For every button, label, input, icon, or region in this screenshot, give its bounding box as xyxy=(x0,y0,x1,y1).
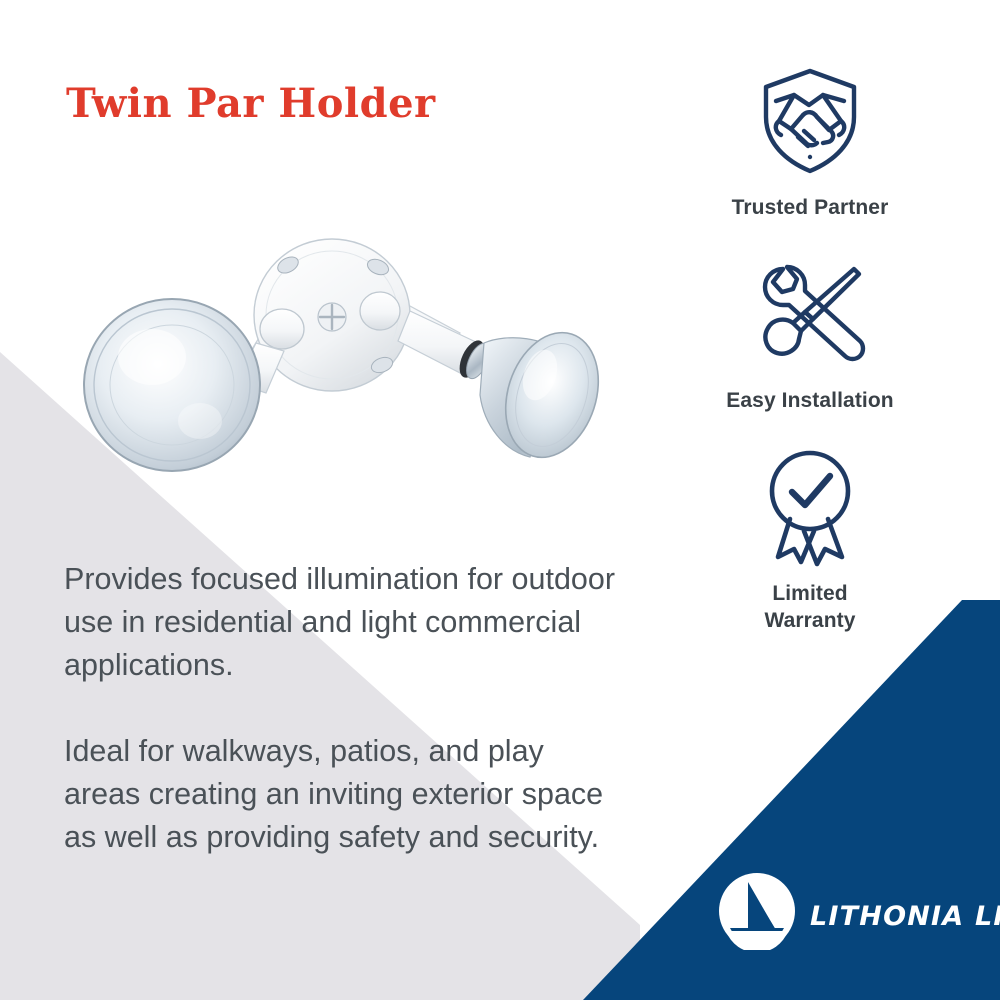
wrench-screwdriver-icon xyxy=(660,255,960,373)
description-block: Provides focused illumination for outdoo… xyxy=(64,558,624,859)
description-paragraph-2: Ideal for walkways, patios, and play are… xyxy=(64,730,624,859)
handshake-shield-icon xyxy=(660,62,960,180)
brand-logo: LITHONIA LIGHTING® xyxy=(718,872,1000,955)
brand-wordmark: LITHONIA LIGHTING® xyxy=(810,897,1000,931)
feature-label-line: Warranty xyxy=(660,607,960,634)
feature-limited-warranty: Limited Warranty xyxy=(660,448,960,634)
description-paragraph-1: Provides focused illumination for outdoo… xyxy=(64,558,624,687)
feature-label: Limited Warranty xyxy=(660,580,960,634)
brand-name-line-2: LIGHTING xyxy=(975,901,1000,932)
check-ribbon-badge-icon xyxy=(660,448,960,566)
brand-name-line-1: LITHONIA xyxy=(810,901,964,932)
lithonia-sail-circle-icon xyxy=(718,872,796,955)
feature-list: Trusted Partner Easy Installation xyxy=(660,62,960,668)
page-title: Twin Par Holder xyxy=(66,80,436,127)
feature-label: Trusted Partner xyxy=(660,194,960,221)
product-image xyxy=(60,225,640,515)
product-feature-card: Twin Par Holder xyxy=(0,0,1000,1000)
feature-trusted-partner: Trusted Partner xyxy=(660,62,960,221)
feature-label-line: Limited xyxy=(660,580,960,607)
feature-label: Easy Installation xyxy=(660,387,960,414)
feature-label-line: Easy Installation xyxy=(660,387,960,414)
feature-easy-installation: Easy Installation xyxy=(660,255,960,414)
feature-label-line: Trusted Partner xyxy=(660,194,960,221)
